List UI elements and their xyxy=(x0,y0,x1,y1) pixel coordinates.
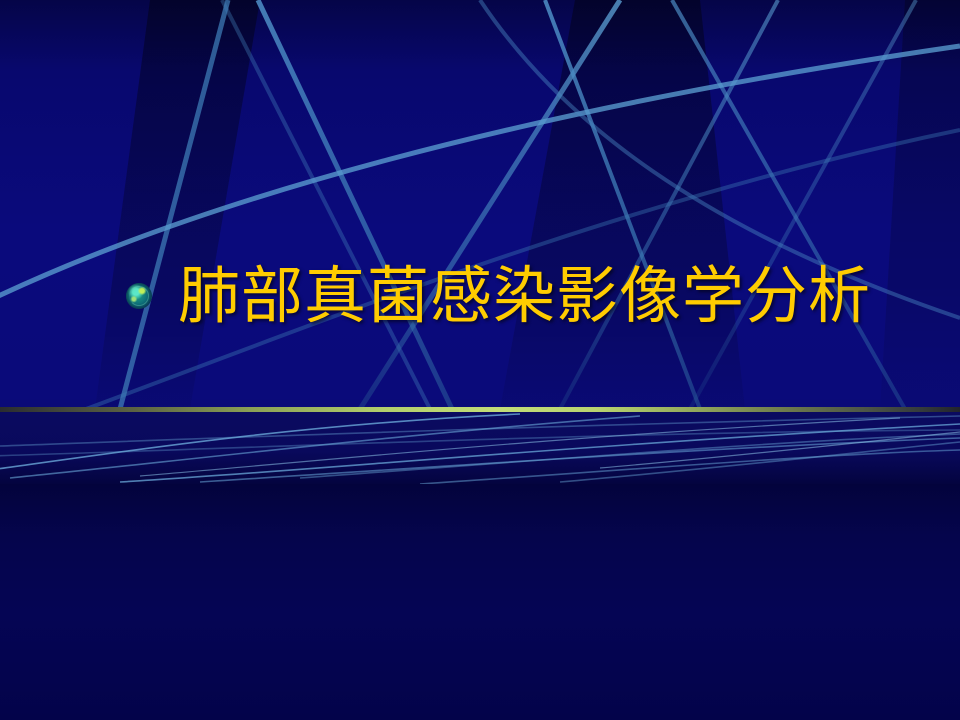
swoosh-lines-graphic xyxy=(0,412,960,484)
page-title: 肺部真菌感染影像学分析 xyxy=(178,265,871,327)
upper-decoration-region xyxy=(0,0,960,409)
presentation-slide: 肺部真菌感染影像学分析 xyxy=(0,0,960,720)
green-sphere-bullet-icon xyxy=(126,283,152,309)
crossing-lines-graphic xyxy=(0,0,960,409)
lower-decoration-band xyxy=(0,412,960,484)
lower-background xyxy=(0,484,960,720)
slide-title-row: 肺部真菌感染影像学分析 xyxy=(126,256,916,336)
